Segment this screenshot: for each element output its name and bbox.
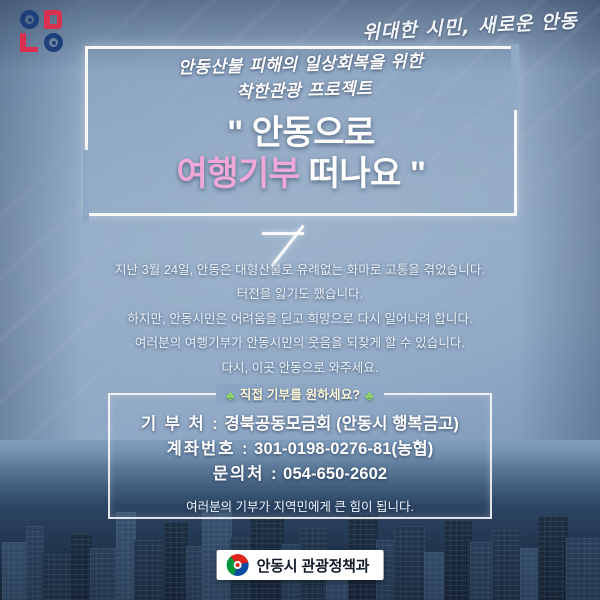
body-line-4: 여러분의 여행기부가 안동시민의 웃음을 되찾게 할 수 있습니다. [60, 331, 540, 355]
footer-badge-text: 안동시 관광정책과 [257, 555, 370, 576]
donation-value-contact: 054-650-2602 [283, 465, 387, 483]
headline-line-2: 여행기부 떠나요 " [85, 154, 517, 195]
city-slogan: 위대한 시민, 새로운 안동 [362, 6, 579, 45]
headline-andong: 안동으로 [252, 114, 375, 152]
footer-badge: 안동시 관광정책과 [217, 550, 384, 580]
donation-row-organization: 기 부 처 : 경북공동모금회 (안동시 행복금고) [110, 412, 490, 437]
donation-note: 여러분의 기부가 지역민에게 큰 힘이 됩니다. [110, 496, 490, 515]
logo-glyph-d-top-right [44, 10, 62, 29]
body-line-2: 터전을 잃기도 했습니다. [60, 282, 540, 306]
donation-label-contact: 문의처 : [213, 465, 279, 483]
donation-box: ♣직접 기부를 원하세요?♣ 기 부 처 : 경북공동모금회 (안동시 행복금고… [108, 393, 492, 519]
donation-details: 기 부 처 : 경북공동모금회 (안동시 행복금고) 계좌번호 : 301-01… [110, 395, 490, 515]
kicker-text: 안동산불 피해의 일상회복을 위한 착한관광 프로젝트 [84, 46, 517, 111]
donation-row-account: 계좌번호 : 301-0198-0276-81(농협) [110, 437, 490, 462]
donation-value-account: 301-0198-0276-81(농협) [254, 440, 433, 458]
body-copy: 지난 3월 24일, 안동은 대형산불로 유례없는 화마로 고통을 겪었습니다.… [60, 258, 540, 380]
quote-close: " [410, 155, 426, 193]
headline-block: 안동산불 피해의 일상회복을 위한 착한관광 프로젝트 " 안동으로 여행기부 … [85, 52, 517, 196]
logo-glyph-circle-top-left [20, 10, 39, 29]
headline-line-1: " 안동으로 [227, 114, 375, 152]
quote-open: " [227, 114, 243, 152]
clover-icon-right: ♣ [365, 388, 374, 403]
donation-label-organization: 기 부 처 : [141, 415, 220, 433]
donation-row-contact: 문의처 : 054-650-2602 [110, 462, 490, 487]
headline-text: " 안동으로 여행기부 떠나요 " [85, 113, 517, 196]
poster-root: 위대한 시민, 새로운 안동 안동산불 피해의 일상회복을 위한 착한관광 프로… [0, 0, 600, 600]
headline-highlight: 여행기부 [177, 155, 300, 193]
body-line-3: 하지만, 안동시민은 어려움을 딛고 희망으로 다시 일어나려 합니다. [60, 307, 540, 331]
headline-rest: 떠나요 [309, 155, 401, 193]
donation-box-title: ♣직접 기부를 원하세요?♣ [110, 384, 490, 404]
andong-city-emblem-icon [227, 554, 249, 576]
andong-city-brand-logo [20, 10, 68, 54]
body-line-1: 지난 3월 24일, 안동은 대형산불로 유례없는 화마로 고통을 겪었습니다. [60, 258, 540, 282]
diagonal-divider [262, 224, 356, 262]
body-line-5: 다시, 이곳 안동으로 와주세요. [60, 356, 540, 380]
donation-title-text: 직접 기부를 원하세요? [240, 388, 360, 402]
donation-value-organization: 경북공동모금회 (안동시 행복금고) [225, 415, 459, 433]
logo-glyph-circle-bottom-right [44, 33, 63, 52]
logo-glyph-n-bottom-left [20, 33, 38, 52]
clover-icon-left: ♣ [226, 388, 235, 403]
donation-label-account: 계좌번호 : [167, 440, 250, 458]
